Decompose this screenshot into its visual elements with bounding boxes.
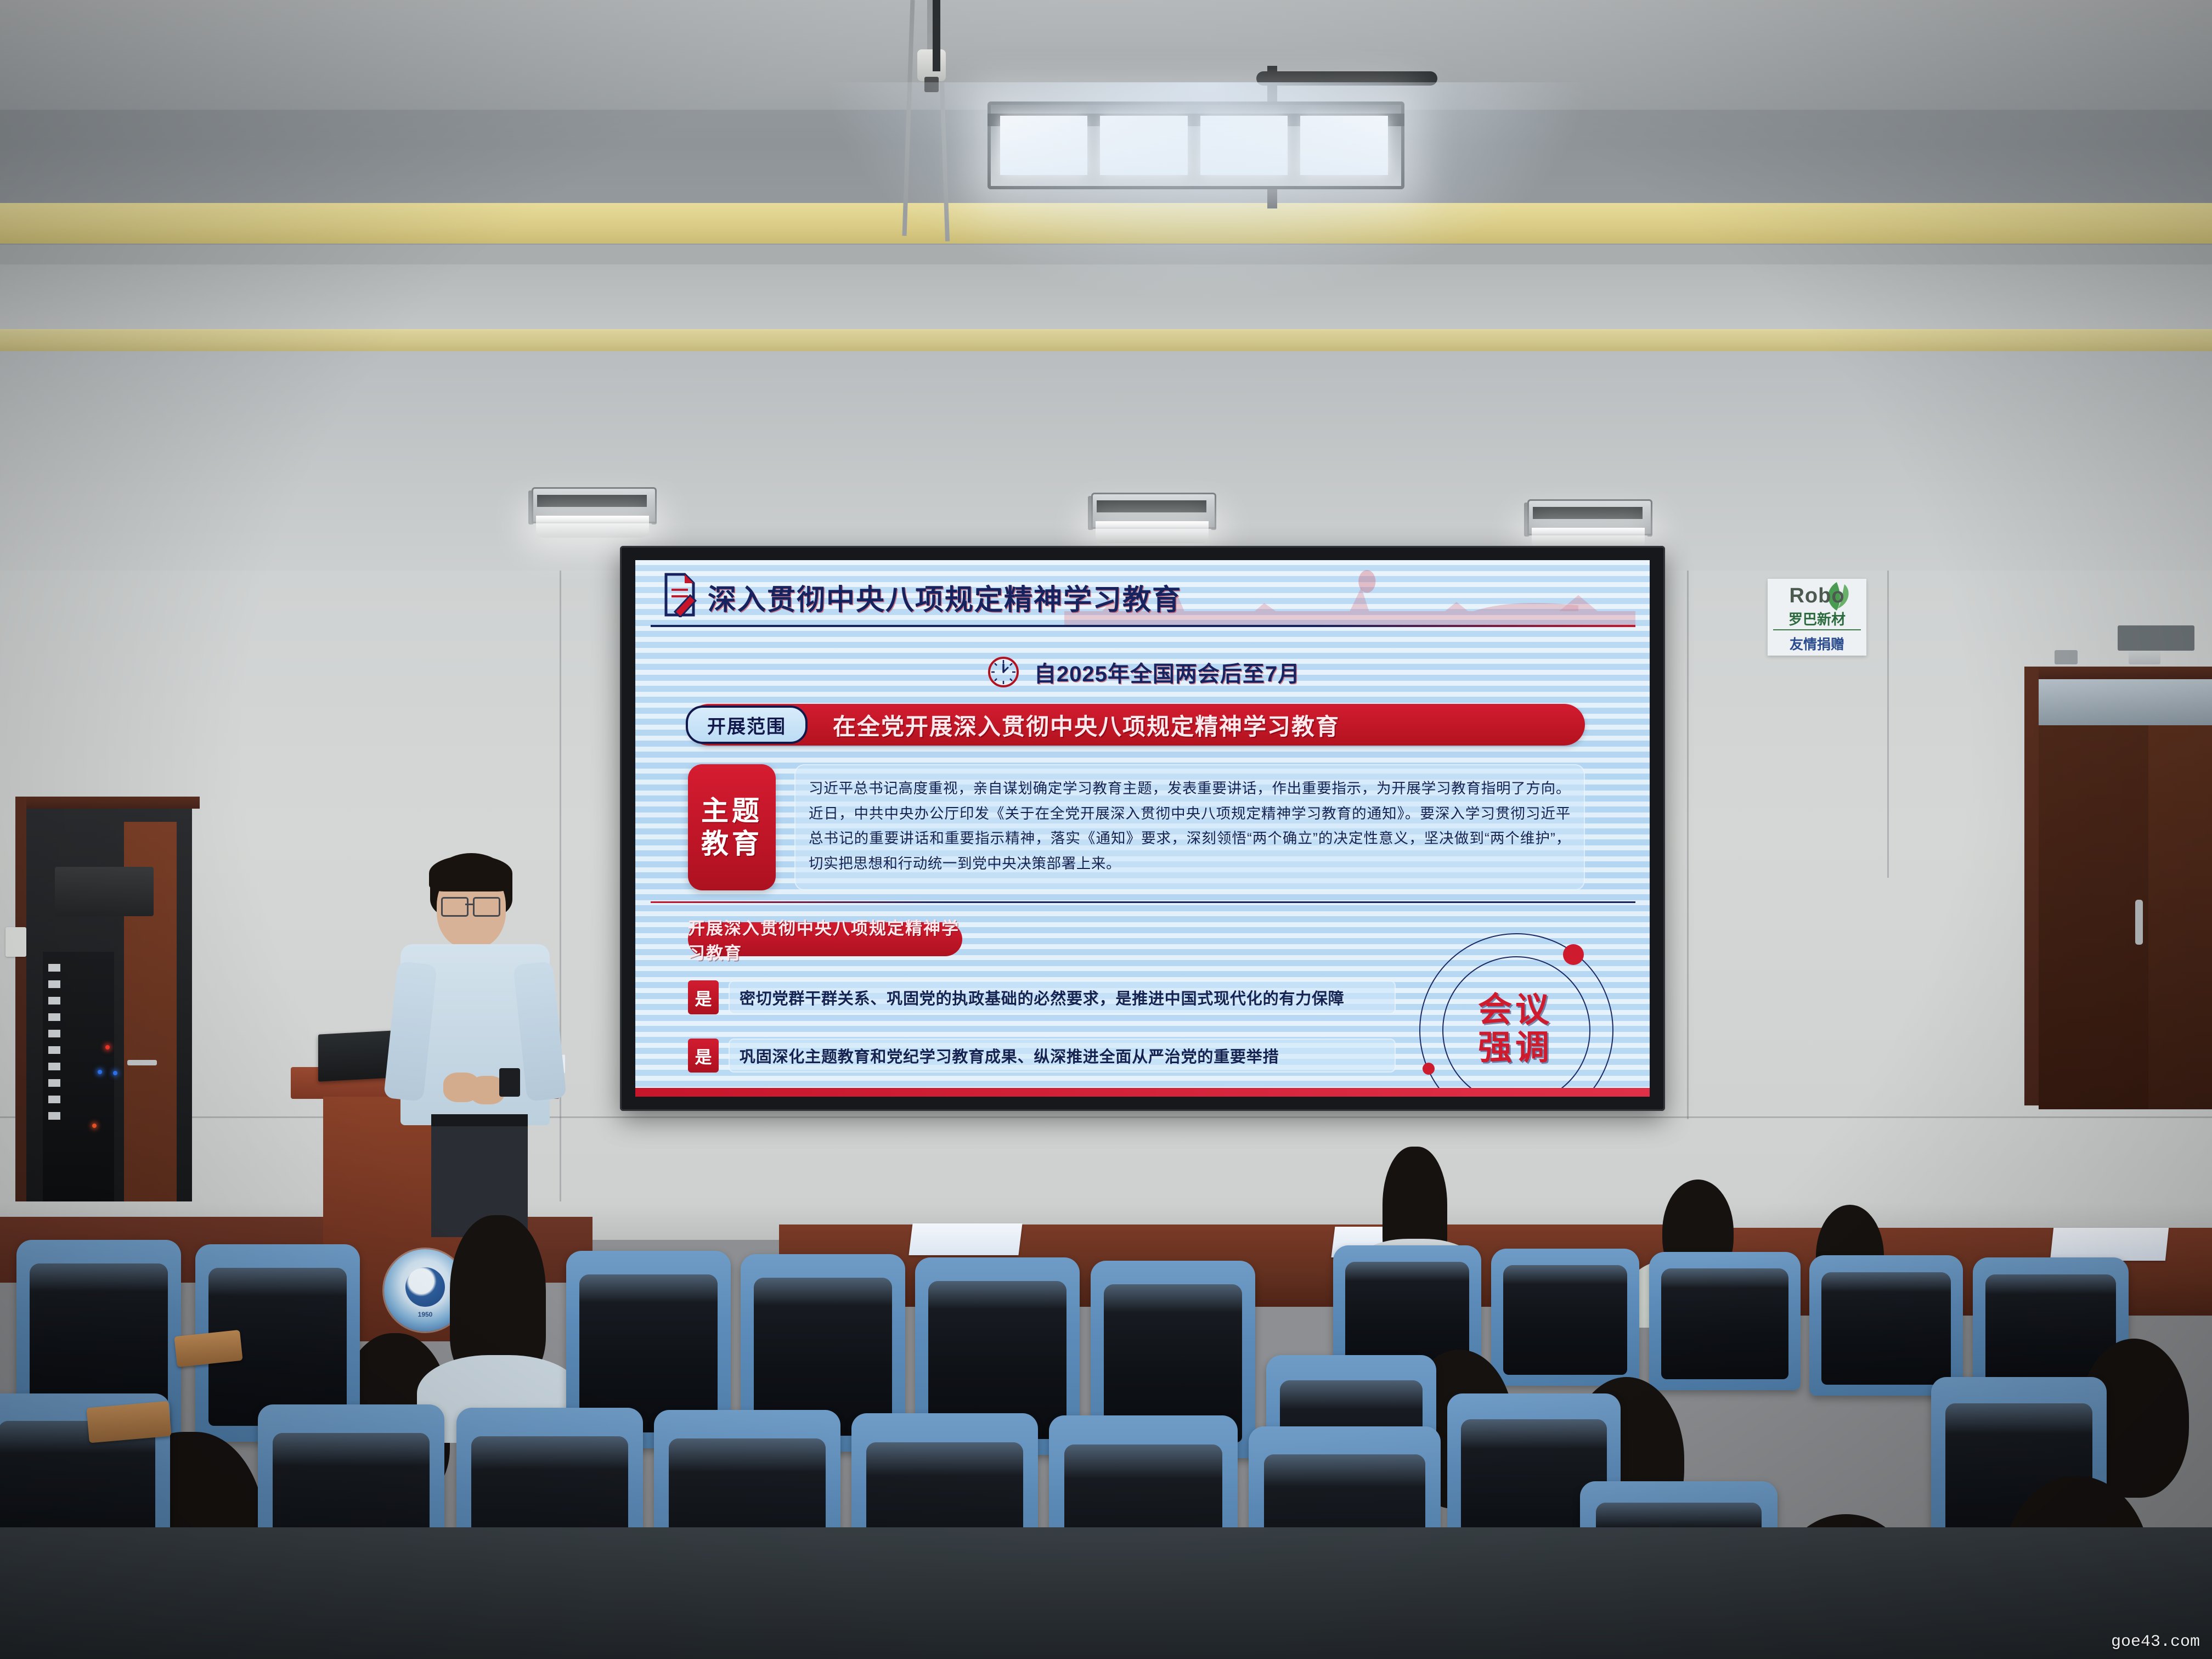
wall-spot-light-1: [524, 487, 661, 538]
watermark: goe43.com: [2111, 1633, 2200, 1651]
light-glow: [823, 82, 1591, 302]
scope-badge: 开展范围: [686, 706, 808, 744]
auditorium-seat[interactable]: [1491, 1249, 1639, 1386]
presenter: [384, 853, 571, 1237]
wall-mounted-box: [2118, 625, 2194, 651]
ceiling-accent-strip-2: [0, 329, 2212, 351]
rack-status-led: [105, 1045, 110, 1049]
wall-sign-divider: [1773, 629, 1861, 630]
presenter-watch: [499, 1068, 520, 1097]
document-pen-icon: [663, 572, 697, 617]
air-conditioner: [55, 867, 154, 916]
wall-seam: [1887, 571, 1889, 878]
name-card: [909, 1223, 1022, 1255]
light-hanger: [933, 0, 940, 71]
exit-door-leaf-right[interactable]: [2148, 725, 2212, 1109]
presentation-screen[interactable]: 深入贯彻中央八项规定精神学习教育 自2025年全国两会后至7月: [620, 546, 1665, 1111]
theme-chip-line2: 教育: [701, 829, 763, 859]
presenter-glasses-bridge: [465, 904, 473, 905]
exit-door-frame-top: [2024, 667, 2212, 680]
exit-door-leaf-left[interactable]: [2039, 725, 2148, 1109]
door-frame-top: [15, 797, 200, 809]
lecture-hall-scene: 深入贯彻中央八项规定精神学习教育 自2025年全国两会后至7月: [0, 0, 2212, 1659]
seat-armrest: [86, 1401, 171, 1443]
rack-status-led: [113, 1071, 117, 1075]
emblem-line-1: 会议: [1419, 991, 1611, 1029]
slide-date-text: 自2025年全国两会后至7月: [1034, 656, 1300, 688]
emblem-line-2: 强调: [1419, 1029, 1611, 1067]
wall-sign: Robo 罗巴新材 友情捐赠: [1768, 579, 1866, 656]
point-text: 巩固深化主题教育和党纪学习教育成果、纵深推进全面从严治党的重要举措: [729, 1039, 1396, 1073]
rack-status-led: [98, 1070, 102, 1074]
auditorium-seat[interactable]: [1809, 1255, 1963, 1396]
wall-sign-brand: Robo: [1768, 584, 1866, 608]
presenter-hair-top: [429, 855, 512, 891]
scope-text: 在全党开展深入贯彻中央八项规定精神学习教育: [833, 708, 1340, 742]
clock-icon: [985, 653, 1022, 691]
meeting-emphasis-emblem: 会议 强调: [1419, 933, 1611, 1097]
wall-seam: [1687, 571, 1689, 1119]
lower-tag: 开展深入贯彻中央八项规定精神学习教育: [688, 922, 962, 956]
point-badge: 是: [688, 1039, 719, 1073]
rack-status-led: [92, 1124, 97, 1128]
theme-body-text: 习近平总书记高度重视，亲自谋划确定学习教育主题，发表重要讲话，作出重要指示，为开…: [809, 776, 1571, 876]
theme-chip: 主题 教育: [688, 764, 776, 890]
door-frame-left: [15, 797, 26, 1219]
wall-sign-brand-cn: 罗巴新材: [1768, 608, 1866, 629]
wall-spot-light-2: [1084, 493, 1221, 543]
emblem-text: 会议 强调: [1419, 991, 1611, 1068]
exit-door-handle[interactable]: [2135, 900, 2143, 945]
theme-body: 习近平总书记高度重视，亲自谋划确定学习教育主题，发表重要讲话，作出重要指示，为开…: [794, 764, 1585, 890]
light-switch[interactable]: [5, 927, 26, 957]
slide-date-row: 自2025年全国两会后至7月: [635, 653, 1650, 691]
slide-surface: 深入贯彻中央八项规定精神学习教育 自2025年全国两会后至7月: [635, 560, 1650, 1097]
wall-sensor: [2055, 650, 2078, 664]
exit-door-frame-left: [2024, 667, 2039, 1105]
slide-title: 深入贯彻中央八项规定精神学习教育: [708, 577, 1182, 618]
theme-chip-line1: 主题: [701, 796, 763, 826]
name-card: [2050, 1228, 2169, 1261]
header-rule: [651, 625, 1635, 627]
point-row-2: 是 巩固深化主题教育和党纪学习教育成果、纵深推进全面从严治党的重要举措: [688, 1035, 1396, 1076]
auditorium-seat[interactable]: [1649, 1252, 1801, 1390]
scope-bar: 开展范围 在全党开展深入贯彻中央八项规定精神学习教育: [688, 704, 1585, 746]
wall-sign-note: 友情捐赠: [1768, 634, 1866, 653]
server-rack: [43, 952, 114, 1210]
slide-mid-rule: [651, 901, 1635, 903]
slide-bottom-bar: [635, 1088, 1650, 1097]
point-text: 密切党群干群关系、巩固党的执政基础的必然要求，是推进中国式现代化的有力保障: [729, 980, 1396, 1014]
slide-header: 深入贯彻中央八项规定精神学习教育: [651, 572, 1635, 625]
wall-spot-light-3: [1520, 499, 1657, 550]
point-badge: 是: [688, 980, 719, 1014]
exit-door-transom: [2039, 679, 2212, 725]
theme-section: 主题 教育 习近平总书记高度重视，亲自谋划确定学习教育主题，发表重要讲话，作出重…: [688, 764, 1585, 890]
presenter-belt: [431, 1114, 528, 1126]
presenter-glasses-right: [473, 897, 500, 917]
point-row-1: 是 密切党群干群关系、巩固党的执政基础的必然要求，是推进中国式现代化的有力保障: [688, 977, 1396, 1018]
door-handle[interactable]: [127, 1060, 157, 1065]
presenter-glasses-left: [441, 897, 469, 917]
floor: [0, 1527, 2212, 1659]
